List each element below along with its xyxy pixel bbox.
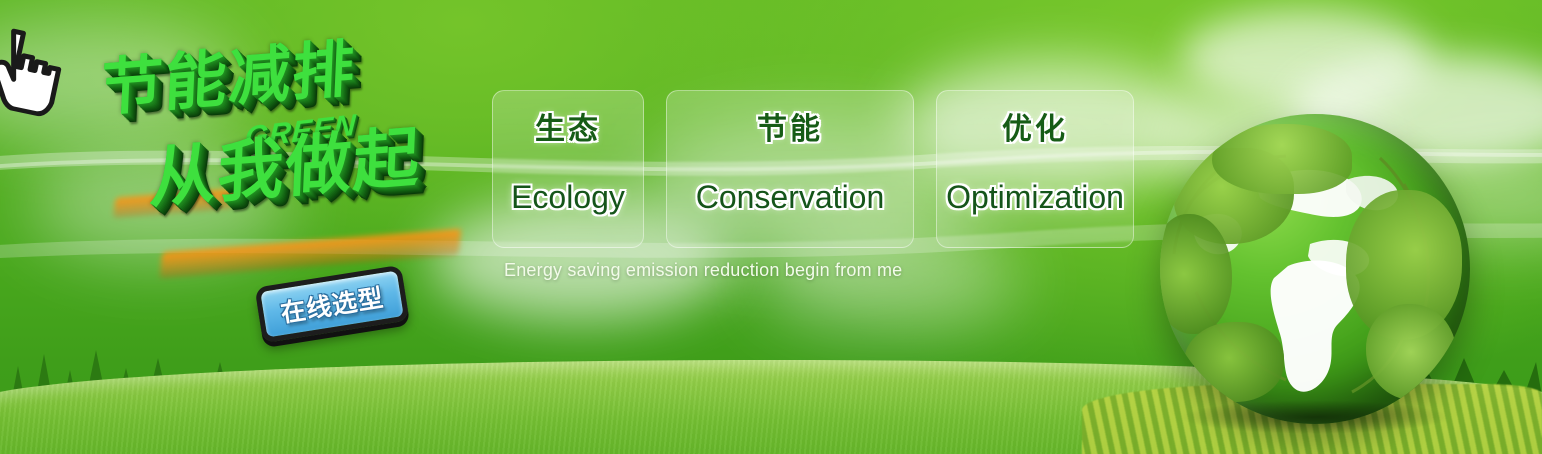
logo-line-bottom: 从我做起 — [148, 124, 422, 212]
leaf-cluster — [1184, 322, 1284, 402]
feature-card-en-label: Ecology — [511, 180, 625, 215]
feature-card-conservation[interactable]: 节能 Conservation — [666, 90, 914, 248]
feature-card-en-label: Optimization — [946, 180, 1124, 215]
feature-card-optimization[interactable]: 优化 Optimization — [936, 90, 1134, 248]
feature-card-ecology[interactable]: 生态 Ecology — [492, 90, 644, 248]
leaf-cluster — [1366, 304, 1456, 400]
green-globe — [1160, 114, 1470, 424]
feature-card-cn-label: 节能 — [757, 113, 823, 146]
eco-banner: 节能减排 GREEN 从我做起 在线选型 生态 Ecology 节能 Conse… — [0, 0, 1542, 454]
logo-line-top: 节能减排 — [99, 38, 357, 120]
feature-card-cn-label: 生态 — [535, 113, 601, 146]
banner-logo: 节能减排 GREEN 从我做起 — [92, 27, 487, 268]
feature-card-list: 生态 Ecology 节能 Conservation 优化 Optimizati… — [492, 90, 1134, 248]
green-globe-icon — [1160, 114, 1470, 424]
feature-card-cn-label: 优化 — [1002, 113, 1068, 146]
leaf-cluster — [1212, 124, 1352, 194]
banner-tagline: Energy saving emission reduction begin f… — [504, 260, 902, 281]
feature-card-en-label: Conservation — [696, 180, 885, 215]
globe-shadow — [1179, 400, 1452, 434]
